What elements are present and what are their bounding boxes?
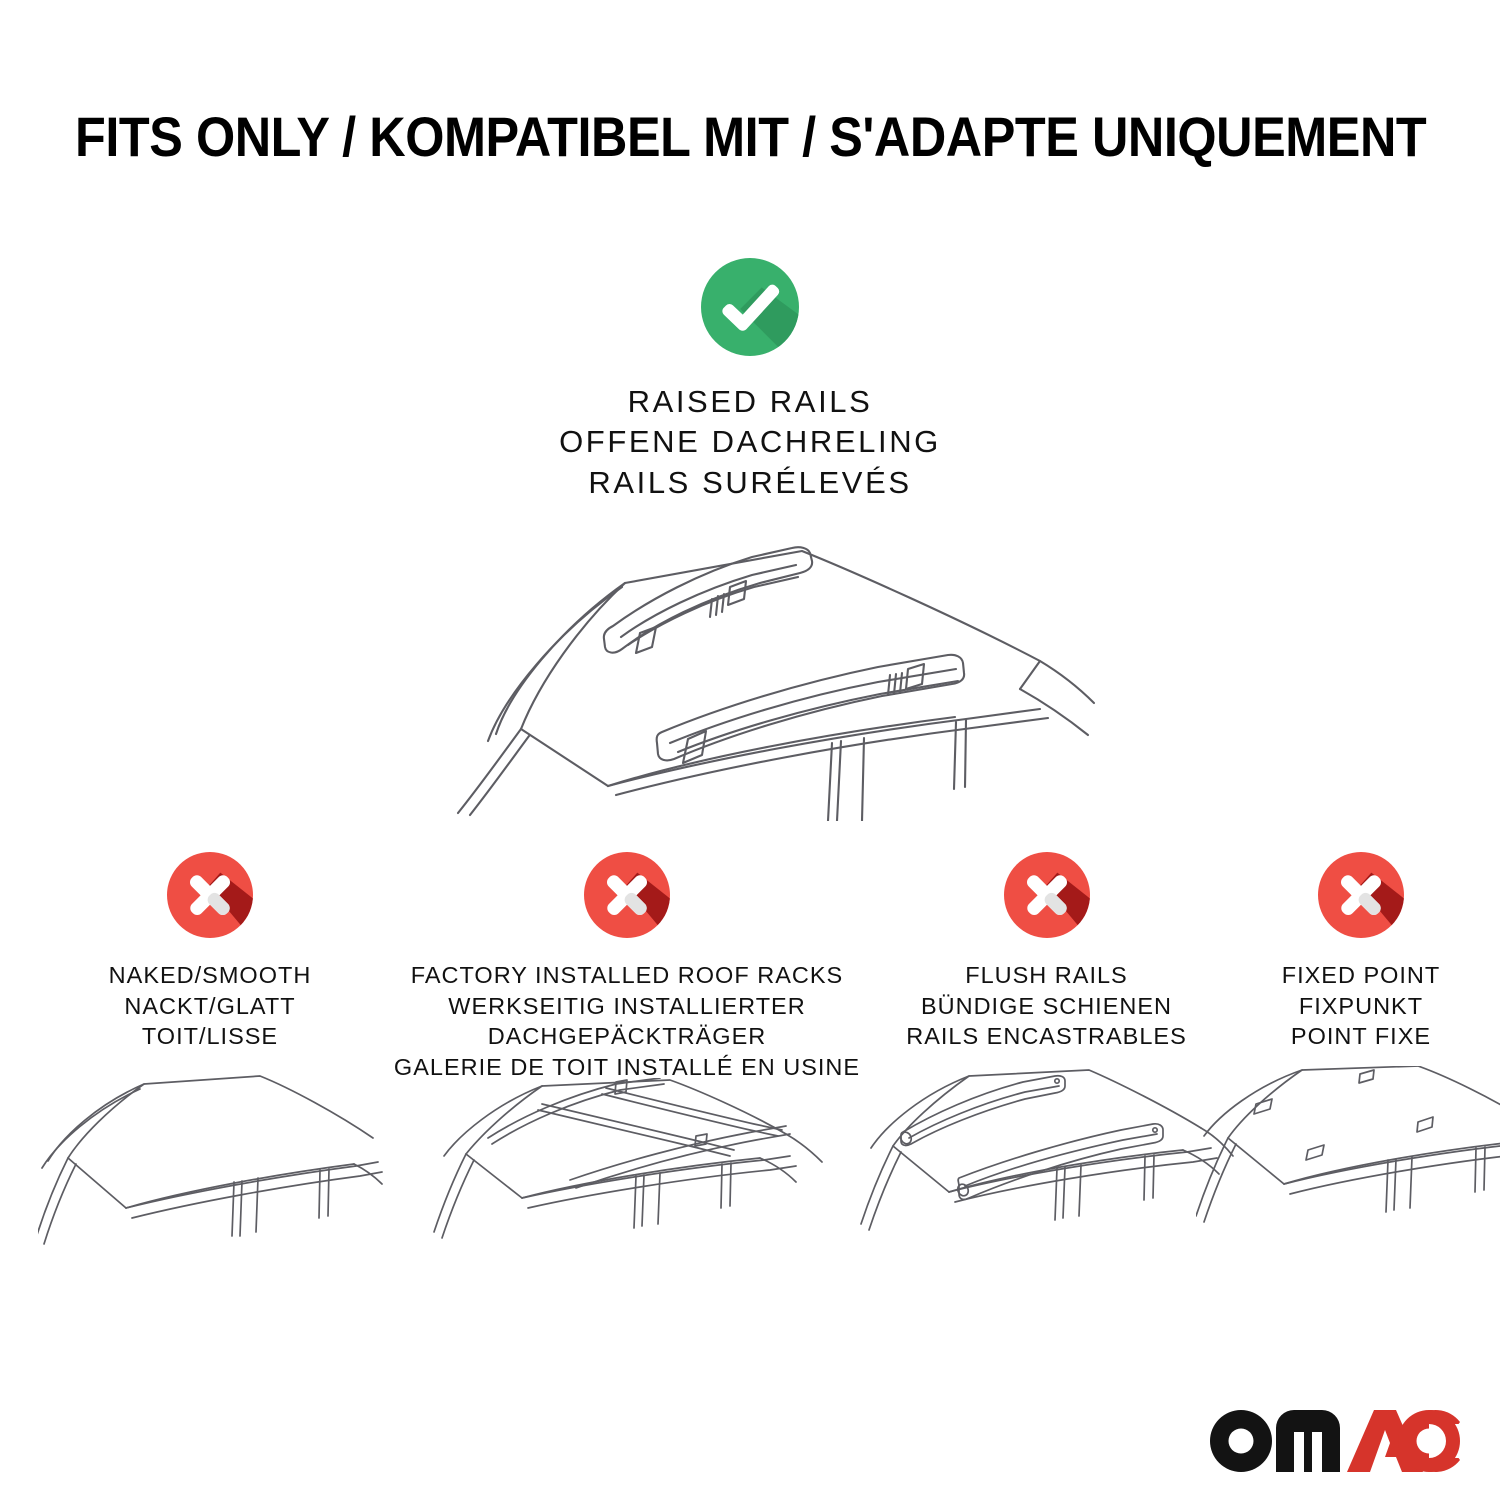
caption-0-line-fr: TOIT/LISSE [109, 1021, 312, 1052]
incompatible-item-flush-rails: FLUSH RAILS BÜNDIGE SCHIENEN RAILS ENCAS… [874, 852, 1219, 1271]
incompatible-caption-3: FIXED POINT FIXPUNKT POINT FIXE [1282, 960, 1441, 1052]
logo-letter-o [1210, 1410, 1272, 1472]
compatible-line-en: RAISED RAILS [559, 382, 941, 422]
car-roof-flush-rails-illustration [859, 1066, 1234, 1271]
x-glyph [1318, 852, 1404, 938]
incompatible-caption-2: FLUSH RAILS BÜNDIGE SCHIENEN RAILS ENCAS… [906, 960, 1187, 1052]
omac-logo [1210, 1410, 1460, 1472]
car-roof-factory-racks-illustration [430, 1078, 825, 1278]
incompatible-row: NAKED/SMOOTH NACKT/GLATT TOIT/LISSE [0, 852, 1500, 1281]
red-x-icon [584, 852, 670, 938]
logo-letter-m [1276, 1410, 1340, 1472]
car-roof-raised-rails-illustration [400, 521, 1100, 821]
incompatible-caption-0: NAKED/SMOOTH NACKT/GLATT TOIT/LISSE [109, 960, 312, 1052]
compatible-caption: RAISED RAILS OFFENE DACHRELING RAILS SUR… [559, 382, 941, 503]
compatible-line-fr: RAILS SURÉLEVÉS [559, 463, 941, 503]
caption-3-line-de: FIXPUNKT [1282, 991, 1441, 1022]
caption-1-line-en: FACTORY INSTALLED ROOF RACKS [394, 960, 860, 991]
incompatible-item-fixed-point: FIXED POINT FIXPUNKT POINT FIXE [1227, 852, 1495, 1271]
car-roof-naked-smooth-illustration [38, 1066, 383, 1281]
red-x-icon [1318, 852, 1404, 938]
logo-letter-c [1398, 1410, 1460, 1472]
incompatible-caption-1: FACTORY INSTALLED ROOF RACKS WERKSEITIG … [394, 960, 860, 1082]
compatible-line-de: OFFENE DACHRELING [559, 422, 941, 462]
check-glyph [701, 258, 799, 356]
car-roof-fixed-point-illustration [1196, 1066, 1500, 1271]
caption-2-line-de: BÜNDIGE SCHIENEN [906, 991, 1187, 1022]
x-glyph [167, 852, 253, 938]
caption-0-line-en: NAKED/SMOOTH [109, 960, 312, 991]
incompatible-item-naked-smooth: NAKED/SMOOTH NACKT/GLATT TOIT/LISSE [30, 852, 390, 1281]
fitment-infographic: FITS ONLY / KOMPATIBEL MIT / S'ADAPTE UN… [0, 0, 1500, 1500]
caption-1-line-de-2: DACHGEPÄCKTRÄGER [394, 1021, 860, 1052]
caption-2-line-fr: RAILS ENCASTRABLES [906, 1021, 1187, 1052]
compatible-block: RAISED RAILS OFFENE DACHRELING RAILS SUR… [0, 258, 1500, 821]
incompatible-item-factory-racks: FACTORY INSTALLED ROOF RACKS WERKSEITIG … [392, 852, 862, 1278]
red-x-icon [1004, 852, 1090, 938]
x-glyph [1004, 852, 1090, 938]
x-glyph [584, 852, 670, 938]
caption-3-line-fr: POINT FIXE [1282, 1021, 1441, 1052]
caption-1-line-de-1: WERKSEITIG INSTALLIERTER [394, 991, 860, 1022]
caption-0-line-de: NACKT/GLATT [109, 991, 312, 1022]
green-check-icon [701, 258, 799, 356]
caption-2-line-en: FLUSH RAILS [906, 960, 1187, 991]
caption-3-line-en: FIXED POINT [1282, 960, 1441, 991]
page-title: FITS ONLY / KOMPATIBEL MIT / S'ADAPTE UN… [75, 104, 1425, 169]
red-x-icon [167, 852, 253, 938]
